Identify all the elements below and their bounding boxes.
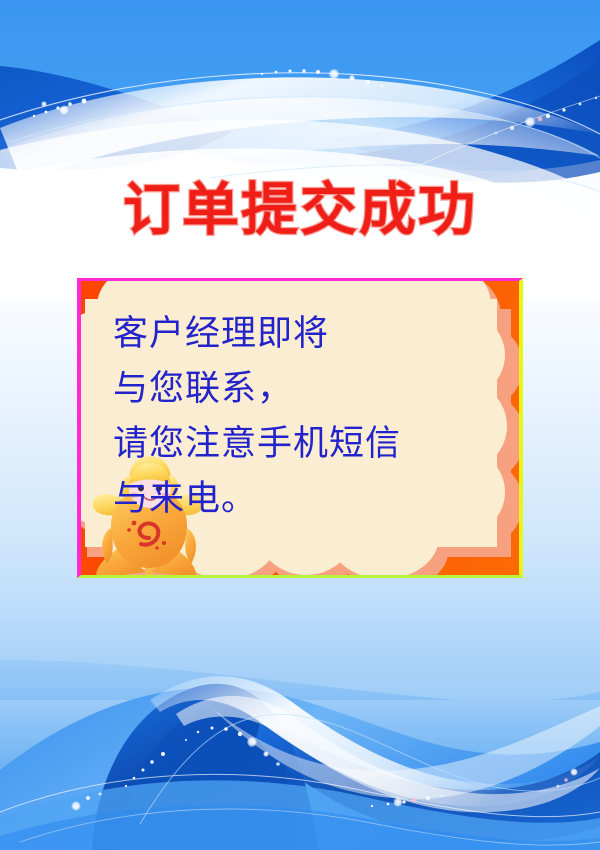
sparkle-dot-trail-top-mid <box>261 69 384 88</box>
top-wave-group <box>0 0 600 300</box>
message-text: 客户经理即将 与您联系， 请您注意手机短信 与来电。 <box>113 307 513 527</box>
page-title-container: 订单提交成功 <box>0 176 600 244</box>
page-title: 订单提交成功 <box>123 176 477 244</box>
bottom-wave-group <box>0 660 600 850</box>
sparkle-dot-trail-bottom-left <box>71 752 165 811</box>
message-line-2: 与您联系， <box>113 362 513 417</box>
message-card: 客户经理即将 与您联系， 请您注意手机短信 与来电。 <box>77 278 523 578</box>
sparkle-dot-trail-bottom-crest <box>185 727 280 766</box>
message-line-1: 客户经理即将 <box>113 307 513 362</box>
sparkle-dot-trail-bottom-right <box>371 768 578 807</box>
message-line-3: 请您注意手机短信 <box>113 417 513 472</box>
sparkle-dot-trail-top-left <box>33 99 87 118</box>
poster-page: 订单提交成功 <box>0 0 600 850</box>
message-line-4: 与来电。 <box>113 472 513 527</box>
sparkle-dot-trail-top-right <box>495 97 598 135</box>
